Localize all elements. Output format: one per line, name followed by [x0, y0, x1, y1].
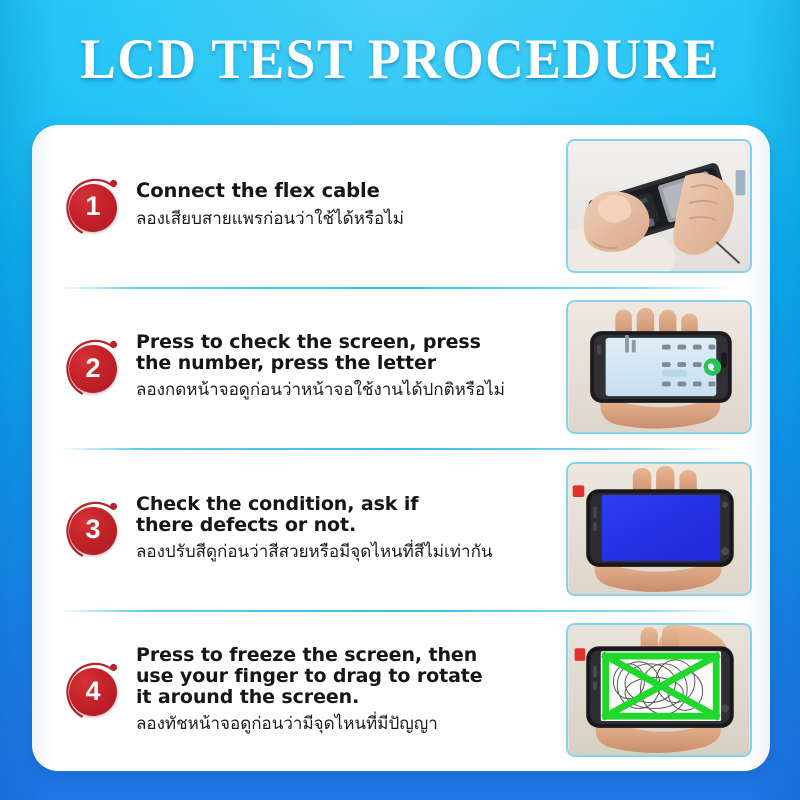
photo-flex-cable-connect-image [568, 141, 750, 271]
step-row: 2 Press to check the screen, press the n… [32, 287, 770, 449]
step-row: 3 Check the condition, ask if there defe… [32, 448, 770, 610]
step-title-th: ลองกดหน้าจอดูก่อนว่าหน้าจอใช้งานได้ปกติห… [136, 379, 558, 402]
step-title-en: Press to freeze the screen, then use you… [136, 645, 558, 708]
step-text: Connect the flex cable ลองเสียบสายแพรก่อ… [136, 180, 566, 231]
step-number: 1 [69, 184, 117, 232]
step-text: Check the condition, ask if there defect… [136, 494, 566, 564]
step-title-th: ลองเสียบสายแพรก่อนว่าใช้ได้หรือไม่ [136, 208, 558, 231]
step-number-badge: 4 [58, 657, 124, 723]
step-number-badge: 3 [58, 496, 124, 562]
step-number: 4 [69, 668, 117, 716]
steps-list: 1 Connect the flex cable ลองเสียบสายแพรก… [32, 125, 770, 771]
step-title-th: ลองปรับสีดูก่อนว่าสีสวยหรือมีจุดไหนที่สี… [136, 541, 558, 564]
photo-phone-touch-test-screen-image [568, 625, 750, 755]
step-text: Press to check the screen, press the num… [136, 332, 566, 402]
step-title-en: Check the condition, ask if there defect… [136, 494, 558, 536]
steps-card: 1 Connect the flex cable ลองเสียบสายแพรก… [32, 125, 770, 771]
step-row: 4 Press to freeze the screen, then use y… [32, 610, 770, 772]
step-row: 1 Connect the flex cable ลองเสียบสายแพรก… [32, 125, 770, 287]
step-number-badge: 1 [58, 173, 124, 239]
step-number-badge: 2 [58, 334, 124, 400]
photo-phone-blue-screen-test [566, 462, 752, 596]
step-title-en: Press to check the screen, press the num… [136, 332, 558, 374]
photo-flex-cable-connect [566, 139, 752, 273]
photo-phone-dialer-screen-image [568, 302, 750, 432]
step-title-en: Connect the flex cable [136, 180, 558, 202]
page-title: LCD TEST PROCEDURE [24, 27, 776, 93]
photo-phone-blue-screen-test-image [568, 464, 750, 594]
step-text: Press to freeze the screen, then use you… [136, 645, 566, 736]
step-title-th: ลองทัชหน้าจอดูก่อนว่ามีจุดไหนที่มีปัญญา [136, 713, 558, 736]
photo-phone-dialer-screen [566, 300, 752, 434]
step-number: 3 [69, 507, 117, 555]
poster-root: LCD TEST PROCEDURE 1 Connect the flex ca… [0, 0, 800, 800]
step-number: 2 [69, 345, 117, 393]
photo-phone-touch-test-screen [566, 623, 752, 757]
